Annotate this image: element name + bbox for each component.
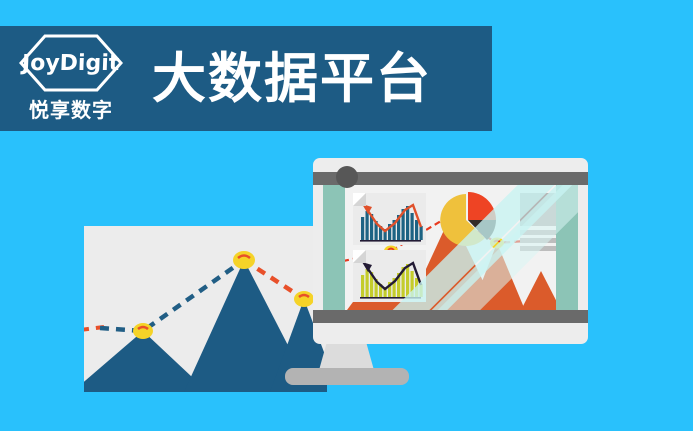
axis-line	[360, 240, 421, 242]
page-title: 大数据平台	[152, 52, 432, 106]
bar-group	[361, 264, 423, 297]
pie-chart-svg	[437, 191, 497, 251]
logo-wordmark: JoyDigit	[22, 51, 120, 76]
data-point-marker	[233, 251, 255, 269]
card-fold-shadow	[353, 250, 366, 263]
card-fold-shadow	[353, 193, 366, 206]
screen-side-strip-left	[323, 185, 345, 310]
monitor-power-button[interactable]	[336, 166, 358, 188]
desktop-monitor	[313, 158, 588, 344]
mountain-chart-panel	[84, 226, 327, 392]
poster-canvas: JoyDigit 悦享数字 大数据平台	[0, 0, 693, 431]
monitor-blue-bar-card	[353, 193, 426, 245]
mountain-chart-svg	[84, 226, 327, 392]
header-banner: JoyDigit 悦享数字 大数据平台	[0, 26, 492, 131]
brand-logo: JoyDigit 悦享数字	[12, 33, 130, 125]
data-point-marker	[294, 291, 314, 307]
axis-line	[360, 297, 421, 299]
hexagon-outline-icon: JoyDigit	[19, 34, 123, 92]
monitor-bottom-bar	[313, 310, 588, 323]
monitor-base	[285, 368, 409, 385]
monitor-screen	[323, 185, 578, 310]
monitor-pie-chart	[437, 191, 497, 251]
logo-subtitle: 悦享数字	[29, 94, 113, 123]
bar-group	[361, 206, 423, 240]
data-point-marker	[133, 323, 153, 339]
monitor-green-bar-card	[353, 250, 426, 302]
orange-mountain-right	[521, 271, 556, 310]
pie-slice-b	[468, 192, 496, 220]
